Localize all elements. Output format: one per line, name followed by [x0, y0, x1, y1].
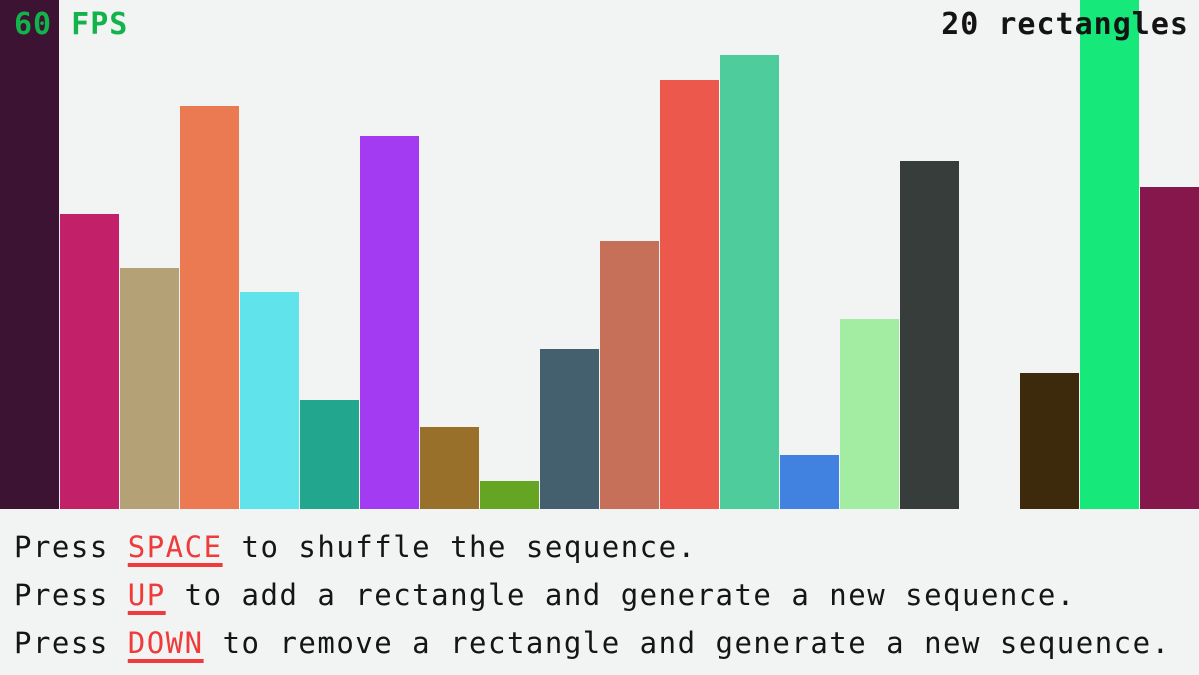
instruction-line-2: Press UP to add a rectangle and generate… — [14, 571, 1199, 619]
bar-12 — [660, 80, 719, 509]
key-up[interactable]: UP — [128, 578, 166, 612]
bar-9 — [480, 481, 539, 509]
bar-3 — [120, 268, 179, 509]
bar-1 — [0, 0, 59, 509]
instruction-line-3: Press DOWN to remove a rectangle and gen… — [14, 619, 1199, 667]
instruction-suffix: to shuffle the sequence. — [223, 530, 697, 564]
bar-10 — [540, 349, 599, 509]
instruction-prefix: Press — [14, 626, 128, 660]
bar-4 — [180, 106, 239, 509]
fps-counter: 60 FPS — [14, 8, 128, 42]
bar-15 — [840, 319, 899, 509]
rectangle-sequence-app: 60 FPS 20 rectangles Press SPACE to shuf… — [0, 0, 1199, 675]
instruction-prefix: Press — [14, 578, 128, 612]
bar-11 — [600, 241, 659, 509]
bar-18 — [1020, 373, 1079, 509]
key-down[interactable]: DOWN — [128, 626, 204, 660]
rectangle-count-label: 20 rectangles — [941, 8, 1189, 42]
bar-16 — [900, 161, 959, 509]
bar-14 — [780, 455, 839, 509]
instruction-suffix: to remove a rectangle and generate a new… — [204, 626, 1171, 660]
bar-7 — [360, 136, 419, 509]
bar-19 — [1080, 0, 1139, 509]
bar-2 — [60, 214, 119, 509]
instruction-prefix: Press — [14, 530, 128, 564]
bar-chart-canvas[interactable] — [0, 0, 1199, 509]
key-space[interactable]: SPACE — [128, 530, 223, 564]
bar-20 — [1140, 187, 1199, 509]
bar-8 — [420, 427, 479, 509]
instruction-suffix: to add a rectangle and generate a new se… — [166, 578, 1076, 612]
instruction-line-1: Press SPACE to shuffle the sequence. — [14, 523, 1199, 571]
instructions-panel: Press SPACE to shuffle the sequence.Pres… — [0, 509, 1199, 675]
bar-5 — [240, 292, 299, 509]
bar-13 — [720, 55, 779, 509]
bar-6 — [300, 400, 359, 509]
